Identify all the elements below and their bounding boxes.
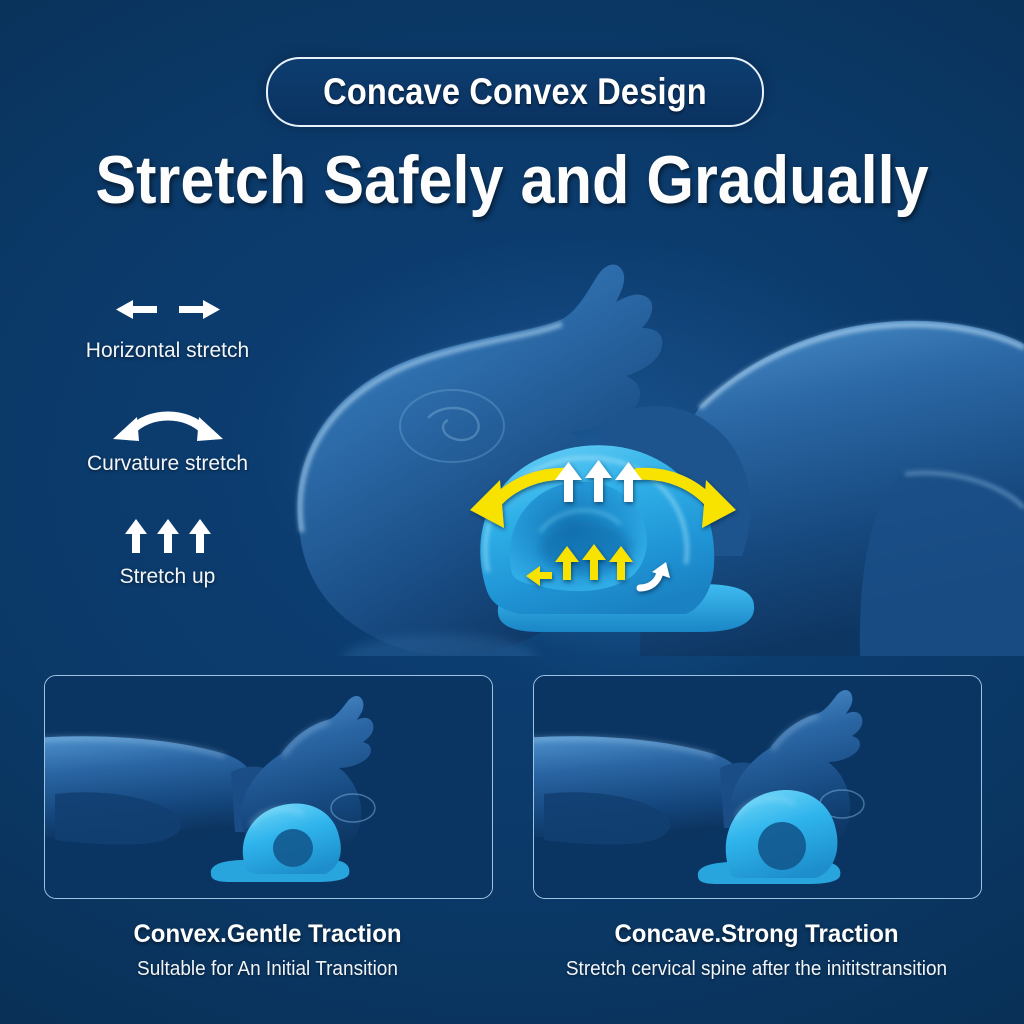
curved-double-arrow-icon — [40, 399, 295, 445]
legend-label-horizontal: Horizontal stretch — [40, 339, 295, 363]
stretch-legend: Horizontal stretch Curvature stretch — [40, 286, 295, 625]
legend-label-curvature: Curvature stretch — [40, 452, 295, 476]
concave-caption: Concave.Strong Traction Stretch cervical… — [533, 920, 980, 981]
concave-panel — [533, 675, 982, 899]
panel-pillow-hole-right — [758, 822, 806, 870]
arm-shape — [860, 470, 1024, 656]
legend-item-stretch-up: Stretch up — [40, 512, 295, 589]
panel-pillow-hole-left — [273, 829, 313, 867]
legend-label-stretch-up: Stretch up — [40, 565, 295, 589]
concave-caption-title: Concave.Strong Traction — [542, 920, 971, 949]
triple-up-arrow-icon — [40, 512, 295, 558]
legend-item-horizontal: Horizontal stretch — [40, 286, 295, 363]
convex-caption: Convex.Gentle Traction Sultable for An I… — [44, 920, 491, 981]
horizontal-double-arrow-icon — [40, 286, 295, 332]
convex-caption-title: Convex.Gentle Traction — [53, 920, 482, 949]
page-title: Stretch Safely and Gradually — [51, 146, 973, 214]
legend-item-curvature: Curvature stretch — [40, 399, 295, 476]
concave-caption-subtitle: Stretch cervical spine after the initits… — [544, 958, 969, 981]
design-badge-label: Concave Convex Design — [323, 71, 707, 113]
design-badge: Concave Convex Design — [266, 57, 764, 127]
convex-panel — [44, 675, 493, 899]
infographic-canvas: Concave Convex Design Stretch Safely and… — [0, 0, 1024, 1024]
convex-caption-subtitle: Sultable for An Initial Transition — [55, 958, 480, 981]
